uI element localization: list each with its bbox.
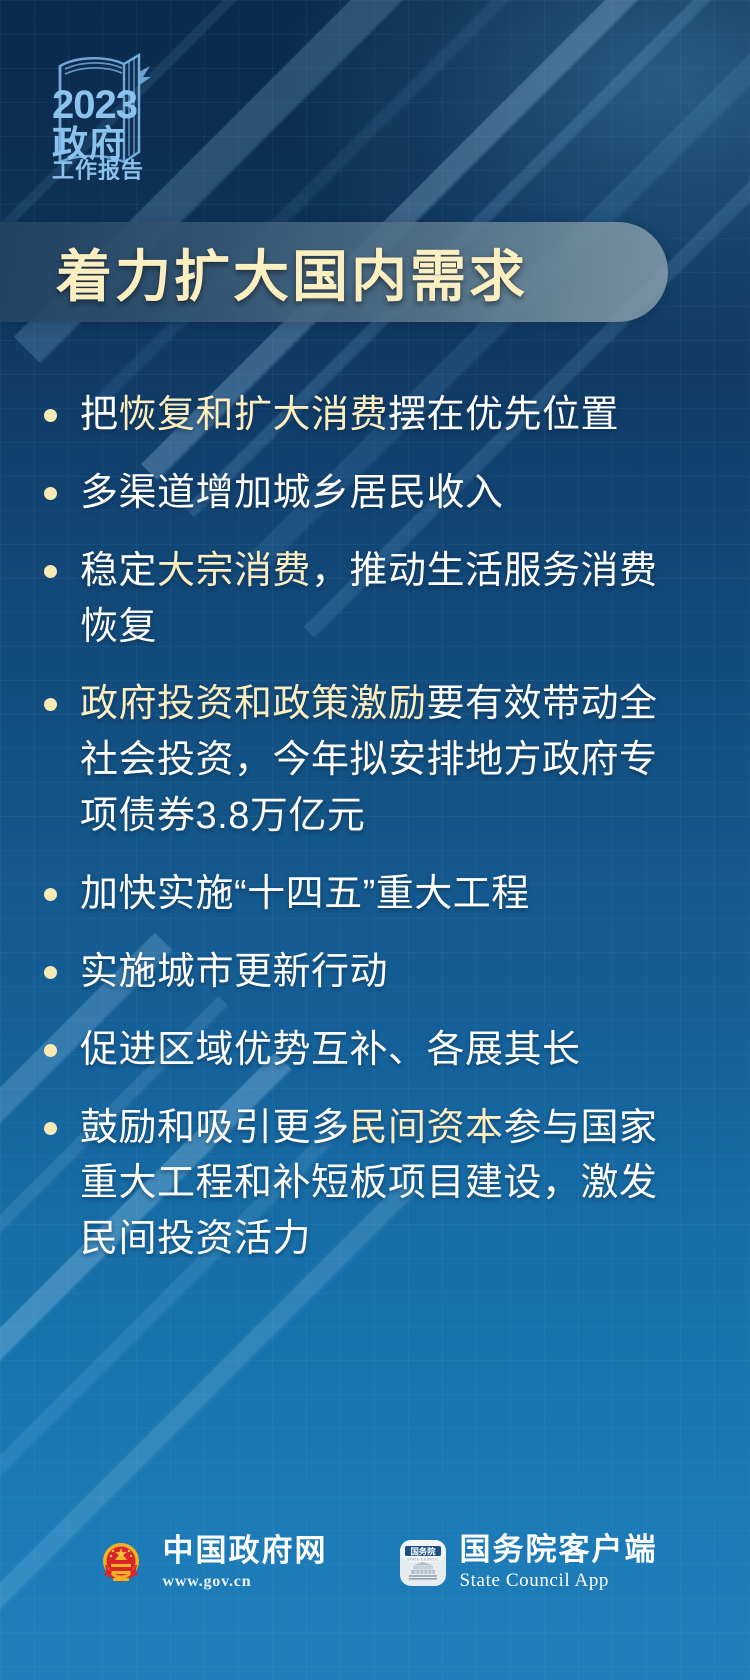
footer: 中国政府网 www.gov.cn 国务院 STATE COUNCIL (0, 1533, 750, 1592)
state-council-name: 国务院客户端 (460, 1533, 658, 1568)
bullet-dot-icon (44, 565, 57, 578)
bullet-highlight-segment: 恢复和扩大消费 (119, 394, 389, 436)
bullet-text: 稳定大宗消费，推动生活服务消费恢复 (80, 544, 694, 656)
bullet-text: 实施城市更新行动 (80, 945, 694, 1001)
bullet-plain-segment: 多渠道增加城乡居民收入 (80, 472, 504, 514)
bullet-plain-segment: 稳定 (80, 550, 157, 592)
bullet-plain-segment: 把 (80, 394, 119, 436)
bullet-item: 鼓励和吸引更多民间资本参与国家重大工程和补短板项目建设，激发民间投资活力 (44, 1101, 694, 1269)
bullet-item: 政府投资和政策激励要有效带动全社会投资，今年拟安排地方政府专项债券3.8万亿元 (44, 677, 694, 845)
bullet-item: 实施城市更新行动 (44, 945, 694, 1001)
logo-year: 2023 (52, 83, 137, 127)
state-council-text: 国务院客户端 State Council App (460, 1533, 658, 1592)
state-council-icon-sublabel: STATE COUNCIL (407, 1557, 439, 1561)
national-emblem-icon (93, 1535, 149, 1591)
state-council-name-en: State Council App (460, 1570, 658, 1592)
gov-cn-logo-block: 中国政府网 www.gov.cn (93, 1534, 328, 1591)
bullet-item: 多渠道增加城乡居民收入 (44, 466, 694, 522)
bullet-plain-segment: 加快实施“十四五”重大工程 (80, 873, 530, 915)
bullet-highlight-segment: 政府投资和政策激励 (80, 683, 427, 725)
bullet-list: 把恢复和扩大消费摆在优先位置多渠道增加城乡居民收入稳定大宗消费，推动生活服务消费… (44, 388, 694, 1290)
bullet-dot-icon (44, 966, 57, 979)
bullet-dot-icon (44, 409, 57, 422)
open-book-icon: 2023 政府 工作报告 (38, 44, 166, 180)
gov-cn-text: 中国政府网 www.gov.cn (163, 1534, 328, 1591)
title-banner: 着力扩大国内需求 (0, 222, 668, 322)
bullet-dot-icon (44, 1044, 57, 1057)
logo-line2: 工作报告 (52, 158, 144, 180)
bullet-plain-segment: 摆在优先位置 (388, 394, 619, 436)
bullet-dot-icon (44, 888, 57, 901)
bullet-dot-icon (44, 487, 57, 500)
bullet-plain-segment: 实施城市更新行动 (80, 951, 388, 993)
gov-cn-name: 中国政府网 (163, 1534, 328, 1569)
bullet-text: 多渠道增加城乡居民收入 (80, 466, 694, 522)
bullet-highlight-segment: 民间资本 (350, 1107, 504, 1149)
bullet-text: 把恢复和扩大消费摆在优先位置 (80, 388, 694, 444)
bullet-item: 把恢复和扩大消费摆在优先位置 (44, 388, 694, 444)
bullet-item: 促进区域优势互补、各展其长 (44, 1023, 694, 1079)
gov-cn-url: www.gov.cn (163, 1573, 328, 1591)
report-logo: 2023 政府 工作报告 (38, 44, 166, 180)
bullet-dot-icon (44, 698, 57, 711)
state-council-logo-block: 国务院 STATE COUNCIL 国务院客户端 State Council A… (400, 1533, 658, 1592)
bullet-item: 加快实施“十四五”重大工程 (44, 867, 694, 923)
bullet-plain-segment: 促进区域优势互补、各展其长 (80, 1029, 581, 1071)
bullet-text: 促进区域优势互补、各展其长 (80, 1023, 694, 1079)
state-council-icon-label: 国务院 (410, 1546, 436, 1556)
bullet-highlight-segment: 大宗消费 (157, 550, 311, 592)
bullet-text: 鼓励和吸引更多民间资本参与国家重大工程和补短板项目建设，激发民间投资活力 (80, 1101, 694, 1269)
poster-root: 2023 政府 工作报告 着力扩大国内需求 把恢复和扩大消费摆在优先位置多渠道增… (0, 0, 750, 1680)
bullet-plain-segment: 鼓励和吸引更多 (80, 1107, 350, 1149)
bullet-text: 政府投资和政策激励要有效带动全社会投资，今年拟安排地方政府专项债券3.8万亿元 (80, 677, 694, 845)
page-title: 着力扩大国内需求 (56, 232, 528, 313)
bullet-item: 稳定大宗消费，推动生活服务消费恢复 (44, 544, 694, 656)
bullet-dot-icon (44, 1122, 57, 1135)
bullet-text: 加快实施“十四五”重大工程 (80, 867, 694, 923)
state-council-app-icon: 国务院 STATE COUNCIL (400, 1540, 446, 1586)
